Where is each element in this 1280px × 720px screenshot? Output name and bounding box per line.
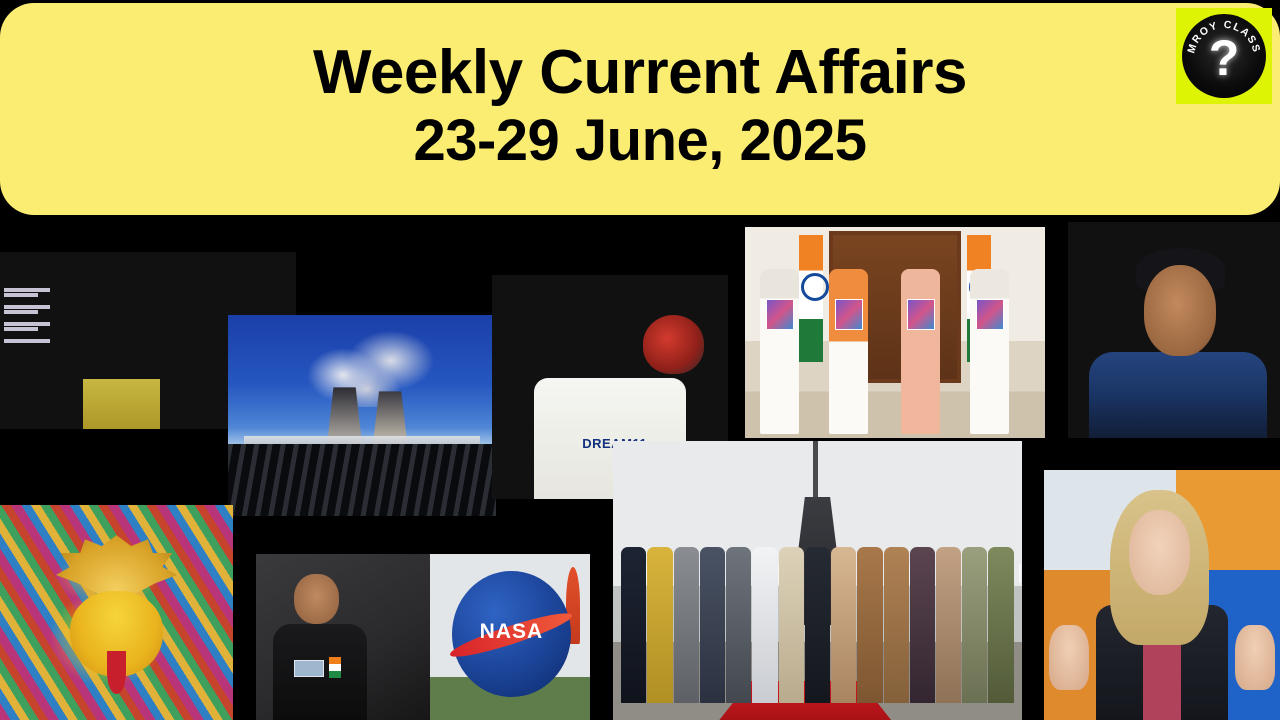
- official-figure: [962, 547, 987, 703]
- official-figure: [805, 547, 830, 703]
- portrait-jacket: [1089, 352, 1267, 438]
- svg-text:MROY CLASS: MROY CLASS: [1185, 19, 1262, 55]
- date-range-subtitle: 23-29 June, 2025: [413, 111, 866, 171]
- ashoka-chakra-left-icon: [801, 273, 829, 301]
- official-figure: [621, 547, 646, 703]
- official-figure: [647, 547, 672, 703]
- official-figure: [726, 547, 751, 703]
- released-book-3: [907, 299, 935, 331]
- released-book-1: [766, 299, 794, 331]
- indian-flag-patch-icon: [329, 657, 341, 679]
- backdrop-text-block: [4, 288, 74, 344]
- festival-image: [0, 505, 233, 720]
- official-figure: [857, 547, 882, 703]
- released-book-4: [976, 299, 1004, 331]
- dignitary-1: [760, 269, 799, 434]
- festival-procession-photo: [0, 505, 233, 720]
- man-portrait-blue-photo: [1068, 222, 1280, 438]
- portrait-face: [1144, 265, 1216, 356]
- brand-logo: MROY CLASS ?: [1176, 8, 1272, 104]
- nasa-sign-text: NASA: [452, 620, 571, 644]
- book-release-ceremony-photo: [745, 227, 1045, 438]
- mission-patch-icon: [294, 660, 324, 677]
- memorial-ceremony-image: [613, 441, 1022, 720]
- man-portrait-image: [1068, 222, 1280, 438]
- logo-disc: MROY CLASS ?: [1182, 14, 1266, 98]
- logo-arc-text-icon: MROY CLASS: [1182, 14, 1266, 98]
- official-figure: [936, 547, 961, 703]
- cricket-helmet: [643, 315, 704, 373]
- woman-speaker-photo: [1044, 470, 1280, 720]
- header-banner: Weekly Current Affairs 23-29 June, 2025: [0, 3, 1280, 215]
- solar-panel-field: [228, 444, 496, 516]
- nasa-sign-image: NASA: [430, 554, 590, 720]
- page-title: Weekly Current Affairs: [313, 41, 967, 105]
- memorial-group-photo: [613, 441, 1022, 720]
- official-figure: [884, 547, 909, 703]
- officials-row: [621, 547, 1014, 703]
- official-figure: [700, 547, 725, 703]
- dignitary-3: [901, 269, 940, 434]
- woman-speaker-image: [1044, 470, 1280, 720]
- nuclear-power-plant-photo: [228, 315, 496, 516]
- astronaut-face: [294, 574, 339, 624]
- dignitary-2: [829, 269, 868, 434]
- official-figure: [674, 547, 699, 703]
- official-figure: [779, 547, 804, 703]
- dignitary-4: [970, 269, 1009, 434]
- official-figure: [988, 547, 1013, 703]
- astronaut-portrait-image: [256, 554, 430, 720]
- speaker-left-hand: [1049, 625, 1089, 690]
- deity-tongue: [107, 651, 126, 694]
- official-figure: [910, 547, 935, 703]
- official-figure: [752, 547, 777, 703]
- nuclear-plant-image: [228, 315, 496, 516]
- speaker-face: [1129, 510, 1190, 595]
- official-figure: [831, 547, 856, 703]
- speaker-right-hand: [1235, 625, 1275, 690]
- book-release-image: [745, 227, 1045, 438]
- podium-shape: [83, 379, 160, 429]
- released-book-2: [835, 299, 863, 331]
- thumbnail-canvas: Weekly Current Affairs 23-29 June, 2025 …: [0, 0, 1280, 720]
- steam-plume: [298, 327, 448, 407]
- logo-brand-text: MROY CLASS: [1185, 19, 1262, 55]
- astronaut-nasa-photo: NASA: [256, 554, 590, 720]
